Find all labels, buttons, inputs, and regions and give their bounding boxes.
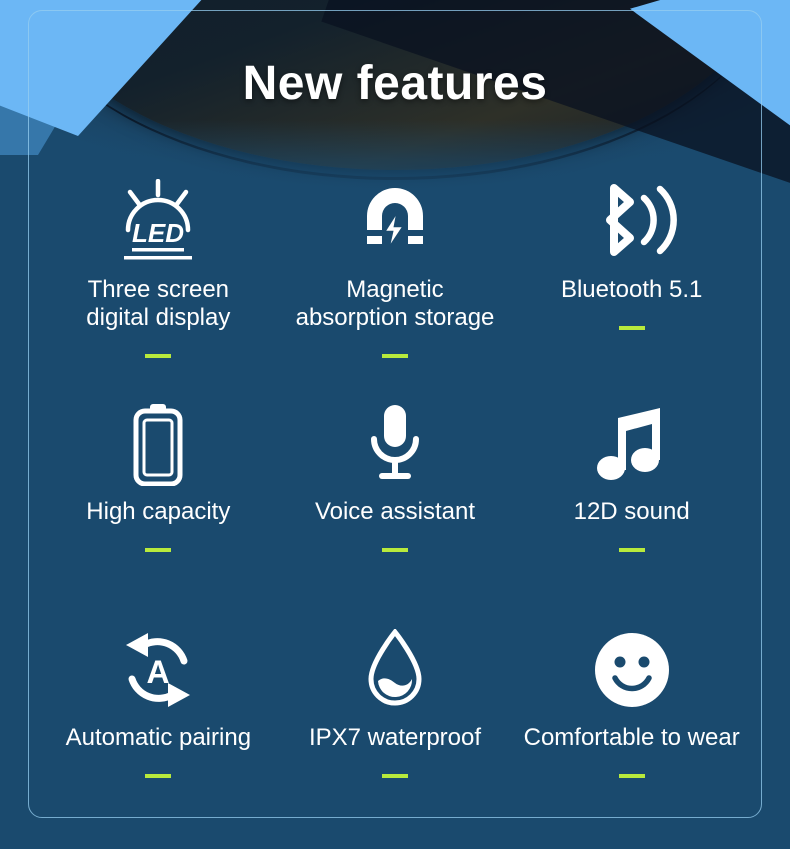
feature-item-comfortable-to-wear: Comfortable to wear — [513, 620, 750, 846]
feature-item-ipx7-waterproof: IPX7 waterproof — [277, 620, 514, 846]
feature-dash — [145, 548, 171, 552]
feature-label: Magnetic absorption storage — [296, 276, 495, 332]
smiley-face-icon — [593, 620, 671, 720]
feature-item-bluetooth: Bluetooth 5.1 — [513, 168, 750, 394]
feature-label: Bluetooth 5.1 — [561, 276, 702, 304]
feature-label: Automatic pairing — [66, 724, 251, 752]
feature-item-automatic-pairing: A Automatic pairing — [40, 620, 277, 846]
feature-dash — [619, 548, 645, 552]
bluetooth-signal-icon — [584, 168, 680, 272]
magnet-icon — [358, 168, 432, 272]
feature-dash — [619, 774, 645, 778]
feature-dash — [382, 354, 408, 358]
auto-pairing-icon: A — [120, 620, 196, 720]
microphone-icon — [366, 394, 424, 494]
feature-dash — [382, 774, 408, 778]
music-note-icon — [596, 394, 668, 494]
feature-item-magnetic-storage: Magnetic absorption storage — [277, 168, 514, 394]
feature-label: 12D sound — [574, 498, 690, 526]
battery-icon — [130, 394, 186, 494]
led-display-icon: LED — [115, 168, 201, 272]
svg-text:A: A — [147, 654, 170, 690]
feature-grid: LED Three screen digital display Magneti… — [40, 168, 750, 846]
feature-dash — [619, 326, 645, 330]
svg-text:LED: LED — [132, 218, 184, 248]
feature-label: IPX7 waterproof — [309, 724, 481, 752]
feature-label: Three screen digital display — [86, 276, 230, 332]
feature-label: Comfortable to wear — [524, 724, 740, 752]
feature-item-high-capacity: High capacity — [40, 394, 277, 620]
feature-item-three-screen-display: LED Three screen digital display — [40, 168, 277, 394]
feature-label: High capacity — [86, 498, 230, 526]
page-title: New features — [0, 56, 790, 111]
water-drop-icon — [364, 620, 426, 720]
feature-item-12d-sound: 12D sound — [513, 394, 750, 620]
feature-item-voice-assistant: Voice assistant — [277, 394, 514, 620]
feature-dash — [145, 354, 171, 358]
feature-label: Voice assistant — [315, 498, 475, 526]
feature-dash — [145, 774, 171, 778]
feature-dash — [382, 548, 408, 552]
